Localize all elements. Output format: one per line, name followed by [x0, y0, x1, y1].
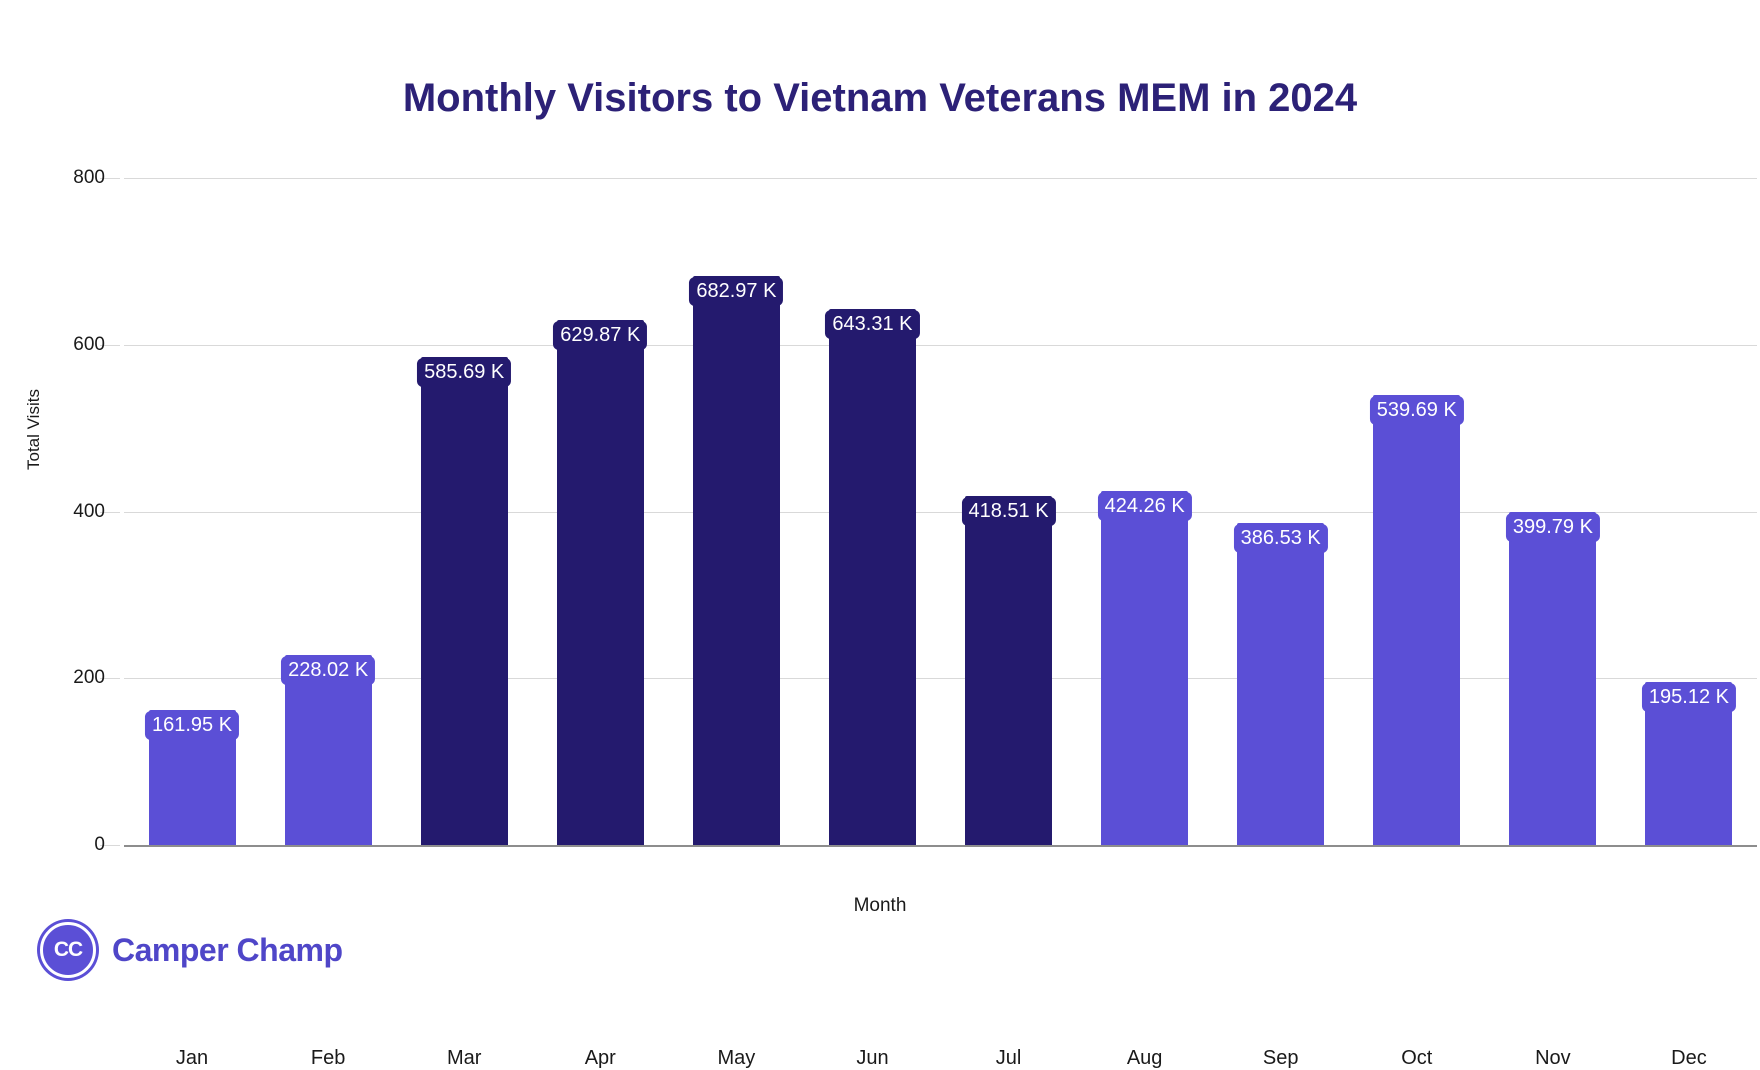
- x-axis-title: Month: [0, 895, 1760, 917]
- bar-value-label: 418.51 K: [961, 497, 1055, 526]
- bar[interactable]: [693, 276, 780, 845]
- bar-value-label: 399.79 K: [1506, 513, 1600, 542]
- bar[interactable]: [421, 357, 508, 845]
- y-tick-label-800: 800: [73, 167, 105, 189]
- bar-value-label: 195.12 K: [1642, 683, 1736, 712]
- bar[interactable]: [1509, 512, 1596, 845]
- y-tick-label-0: 0: [94, 834, 105, 856]
- y-tick-label-400: 400: [73, 501, 105, 523]
- bar[interactable]: [965, 496, 1052, 845]
- bar-slot: 195.12 K: [1645, 178, 1732, 845]
- gridline-0: [124, 845, 1757, 847]
- bar-value-label: 585.69 K: [417, 358, 511, 387]
- bar-value-label: 228.02 K: [281, 656, 375, 685]
- brand-logo: CC Camper Champ: [40, 922, 343, 978]
- brand-name: Camper Champ: [112, 932, 343, 969]
- bar-slot: 585.69 K: [421, 178, 508, 845]
- bar-value-label: 386.53 K: [1234, 524, 1328, 553]
- bar[interactable]: [1373, 395, 1460, 845]
- x-tick-label-dec: Dec: [1589, 1047, 1760, 1070]
- bar-value-label: 643.31 K: [825, 310, 919, 339]
- y-tick-label-200: 200: [73, 667, 105, 689]
- bar-value-label: 539.69 K: [1370, 396, 1464, 425]
- bar-slot: 418.51 K: [965, 178, 1052, 845]
- bar-slot: 539.69 K: [1373, 178, 1460, 845]
- bar[interactable]: [1101, 491, 1188, 845]
- bar-value-label: 682.97 K: [689, 277, 783, 306]
- bar-slot: 399.79 K: [1509, 178, 1596, 845]
- bar-value-label: 424.26 K: [1098, 492, 1192, 521]
- chart-title: Monthly Visitors to Vietnam Veterans MEM…: [0, 76, 1760, 121]
- camper-champ-logo-icon: CC: [40, 922, 96, 978]
- bar[interactable]: [557, 320, 644, 845]
- bar[interactable]: [829, 309, 916, 845]
- chart-container: Monthly Visitors to Vietnam Veterans MEM…: [0, 0, 1760, 1000]
- bar-value-label: 161.95 K: [145, 711, 239, 740]
- brand-monogram: CC: [54, 938, 82, 962]
- bar-slot: 682.97 K: [693, 178, 780, 845]
- plot-area: 0200400600800161.95 KJan228.02 KFeb585.6…: [124, 178, 1757, 845]
- y-tick-label-600: 600: [73, 334, 105, 356]
- bar-slot: 424.26 K: [1101, 178, 1188, 845]
- bar-slot: 228.02 K: [285, 178, 372, 845]
- bar-slot: 629.87 K: [557, 178, 644, 845]
- bar-value-label: 629.87 K: [553, 321, 647, 350]
- bar-slot: 386.53 K: [1237, 178, 1324, 845]
- bar-slot: 643.31 K: [829, 178, 916, 845]
- bar-slot: 161.95 K: [149, 178, 236, 845]
- bar[interactable]: [1237, 523, 1324, 845]
- y-axis-title: Total Visits: [24, 389, 44, 470]
